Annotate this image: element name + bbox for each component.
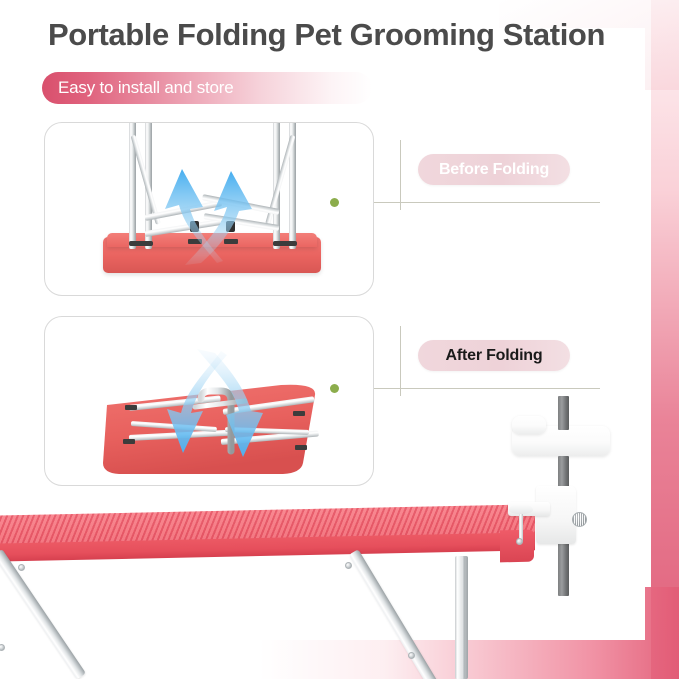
grooming-arm-step xyxy=(512,416,546,434)
illustration-after-folding xyxy=(45,317,373,485)
arrow-down-right xyxy=(197,349,263,457)
label-before-folding-text: Before Folding xyxy=(439,161,549,179)
motion-arrows-down xyxy=(45,317,374,486)
clamp-screw-knob xyxy=(509,504,533,514)
folding-leg-left-front xyxy=(0,549,86,679)
page-title: Portable Folding Pet Grooming Station xyxy=(48,17,605,53)
hero-product-photo xyxy=(0,486,679,679)
leg-bolt-left-top xyxy=(18,564,25,571)
clamp-screw-tip xyxy=(516,538,523,545)
label-before-folding: Before Folding xyxy=(418,154,570,185)
connector-vertical-after xyxy=(400,326,401,396)
folding-leg-right-front xyxy=(349,549,440,679)
green-dot-connector-before xyxy=(330,198,339,207)
illustration-card-before-folding xyxy=(44,122,374,296)
chrome-thumb-screw xyxy=(572,512,587,527)
tabletop-right-edge-cap xyxy=(500,530,534,563)
subtitle-badge-label: Easy to install and store xyxy=(58,78,233,98)
grooming-arm-vertical-post-upper xyxy=(558,396,569,430)
subtitle-badge: Easy to install and store xyxy=(42,72,372,104)
label-after-folding: After Folding xyxy=(418,340,570,371)
product-marketing-image: Portable Folding Pet Grooming Station Ea… xyxy=(0,0,679,679)
illustration-before-folding xyxy=(45,123,373,295)
connector-vertical-before xyxy=(400,140,401,210)
grooming-arm-vertical-post-mid xyxy=(558,456,569,488)
leg-bolt-right-top xyxy=(345,562,352,569)
green-dot-connector-after xyxy=(330,384,339,393)
label-after-folding-text: After Folding xyxy=(446,347,543,365)
motion-arrows-up xyxy=(45,123,374,296)
illustration-card-after-folding xyxy=(44,316,374,486)
chrome-support-post-highlight xyxy=(461,556,465,679)
leg-bolt-left-bottom xyxy=(0,644,5,651)
leg-bolt-right-bottom xyxy=(408,652,415,659)
arrow-up-right xyxy=(185,171,252,265)
